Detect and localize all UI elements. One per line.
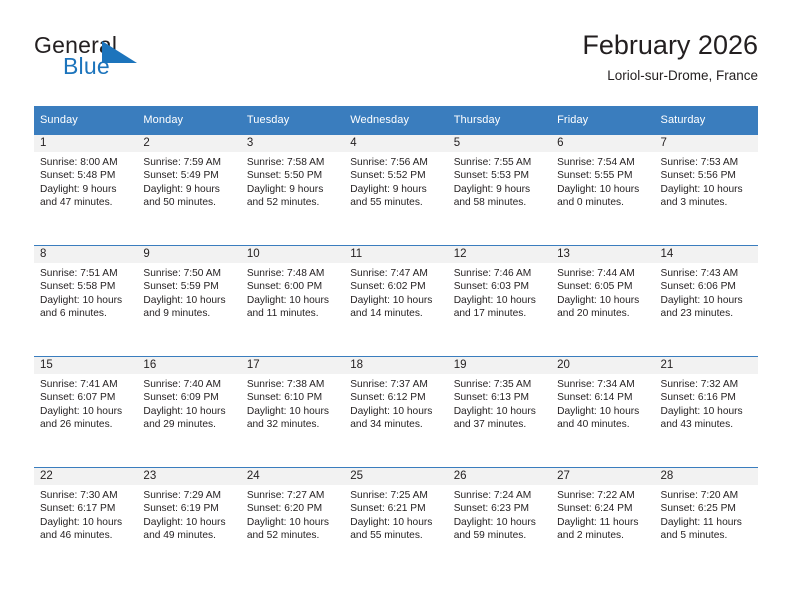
calendar-day-cell[interactable]: 27Sunrise: 7:22 AMSunset: 6:24 PMDayligh…: [551, 468, 654, 579]
daylight-text-line1: Daylight: 10 hours: [247, 405, 340, 418]
day-number: 9: [137, 246, 240, 263]
sunset-text: Sunset: 5:49 PM: [143, 169, 236, 182]
sunset-text: Sunset: 6:13 PM: [454, 391, 547, 404]
sunrise-text: Sunrise: 7:53 AM: [661, 156, 754, 169]
daylight-text-line2: and 40 minutes.: [557, 418, 650, 431]
calendar-day-cell[interactable]: 14Sunrise: 7:43 AMSunset: 6:06 PMDayligh…: [655, 246, 758, 357]
day-number: 2: [137, 135, 240, 152]
sunrise-text: Sunrise: 7:41 AM: [40, 378, 133, 391]
sunset-text: Sunset: 6:07 PM: [40, 391, 133, 404]
sunrise-text: Sunrise: 7:37 AM: [350, 378, 443, 391]
page-title: February 2026: [582, 28, 758, 62]
sunrise-text: Sunrise: 7:34 AM: [557, 378, 650, 391]
daylight-text-line2: and 50 minutes.: [143, 196, 236, 209]
day-cell-inner: 22Sunrise: 7:30 AMSunset: 6:17 PMDayligh…: [34, 468, 137, 578]
day-cell-inner: 12Sunrise: 7:46 AMSunset: 6:03 PMDayligh…: [448, 246, 551, 356]
calendar-day-cell[interactable]: 16Sunrise: 7:40 AMSunset: 6:09 PMDayligh…: [137, 357, 240, 468]
sunrise-text: Sunrise: 7:51 AM: [40, 267, 133, 280]
day-cell-inner: 4Sunrise: 7:56 AMSunset: 5:52 PMDaylight…: [344, 135, 447, 245]
day-number: 27: [551, 468, 654, 485]
sunrise-text: Sunrise: 7:27 AM: [247, 489, 340, 502]
daylight-text-line2: and 20 minutes.: [557, 307, 650, 320]
day-details: Sunrise: 7:24 AMSunset: 6:23 PMDaylight:…: [448, 485, 551, 543]
daylight-text-line2: and 2 minutes.: [557, 529, 650, 542]
daylight-text-line1: Daylight: 10 hours: [454, 294, 547, 307]
daylight-text-line1: Daylight: 10 hours: [350, 516, 443, 529]
sunrise-text: Sunrise: 7:24 AM: [454, 489, 547, 502]
sunrise-text: Sunrise: 8:00 AM: [40, 156, 133, 169]
day-cell-inner: 7Sunrise: 7:53 AMSunset: 5:56 PMDaylight…: [655, 135, 758, 245]
day-number: 25: [344, 468, 447, 485]
day-number: 6: [551, 135, 654, 152]
sunrise-text: Sunrise: 7:54 AM: [557, 156, 650, 169]
sunset-text: Sunset: 5:56 PM: [661, 169, 754, 182]
day-number: 8: [34, 246, 137, 263]
day-details: Sunrise: 7:38 AMSunset: 6:10 PMDaylight:…: [241, 374, 344, 432]
day-number: 1: [34, 135, 137, 152]
calendar-day-cell[interactable]: 15Sunrise: 7:41 AMSunset: 6:07 PMDayligh…: [34, 357, 137, 468]
calendar-day-cell[interactable]: 17Sunrise: 7:38 AMSunset: 6:10 PMDayligh…: [241, 357, 344, 468]
daylight-text-line2: and 52 minutes.: [247, 196, 340, 209]
sunrise-text: Sunrise: 7:50 AM: [143, 267, 236, 280]
day-details: Sunrise: 7:43 AMSunset: 6:06 PMDaylight:…: [655, 263, 758, 321]
brand-name-blue: Blue: [63, 53, 110, 80]
calendar-day-cell[interactable]: 8Sunrise: 7:51 AMSunset: 5:58 PMDaylight…: [34, 246, 137, 357]
daylight-text-line1: Daylight: 10 hours: [454, 405, 547, 418]
day-cell-inner: 19Sunrise: 7:35 AMSunset: 6:13 PMDayligh…: [448, 357, 551, 467]
daylight-text-line1: Daylight: 10 hours: [454, 516, 547, 529]
daylight-text-line1: Daylight: 10 hours: [143, 516, 236, 529]
sunrise-text: Sunrise: 7:46 AM: [454, 267, 547, 280]
day-details: Sunrise: 7:25 AMSunset: 6:21 PMDaylight:…: [344, 485, 447, 543]
sunrise-text: Sunrise: 7:40 AM: [143, 378, 236, 391]
day-cell-inner: 2Sunrise: 7:59 AMSunset: 5:49 PMDaylight…: [137, 135, 240, 245]
sunrise-text: Sunrise: 7:55 AM: [454, 156, 547, 169]
day-cell-inner: 26Sunrise: 7:24 AMSunset: 6:23 PMDayligh…: [448, 468, 551, 578]
calendar-day-cell[interactable]: 21Sunrise: 7:32 AMSunset: 6:16 PMDayligh…: [655, 357, 758, 468]
calendar-day-cell[interactable]: 24Sunrise: 7:27 AMSunset: 6:20 PMDayligh…: [241, 468, 344, 579]
day-number: 18: [344, 357, 447, 374]
sunset-text: Sunset: 6:06 PM: [661, 280, 754, 293]
sunrise-text: Sunrise: 7:22 AM: [557, 489, 650, 502]
daylight-text-line1: Daylight: 10 hours: [350, 294, 443, 307]
calendar-body: 1Sunrise: 8:00 AMSunset: 5:48 PMDaylight…: [34, 135, 758, 579]
day-cell-inner: 25Sunrise: 7:25 AMSunset: 6:21 PMDayligh…: [344, 468, 447, 578]
brand-logo[interactable]: General Blue: [34, 32, 264, 90]
day-cell-inner: 6Sunrise: 7:54 AMSunset: 5:55 PMDaylight…: [551, 135, 654, 245]
daylight-text-line2: and 58 minutes.: [454, 196, 547, 209]
daylight-text-line1: Daylight: 10 hours: [40, 294, 133, 307]
page-header: General Blue February 2026 Loriol-sur-Dr…: [34, 28, 758, 100]
calendar-day-cell[interactable]: 28Sunrise: 7:20 AMSunset: 6:25 PMDayligh…: [655, 468, 758, 579]
weekday-header-sunday: Sunday: [34, 106, 137, 135]
daylight-text-line2: and 17 minutes.: [454, 307, 547, 320]
day-details: Sunrise: 7:37 AMSunset: 6:12 PMDaylight:…: [344, 374, 447, 432]
sunset-text: Sunset: 5:52 PM: [350, 169, 443, 182]
daylight-text-line2: and 47 minutes.: [40, 196, 133, 209]
sunset-text: Sunset: 6:21 PM: [350, 502, 443, 515]
calendar-day-cell[interactable]: 2Sunrise: 7:59 AMSunset: 5:49 PMDaylight…: [137, 135, 240, 246]
daylight-text-line2: and 14 minutes.: [350, 307, 443, 320]
sunset-text: Sunset: 6:03 PM: [454, 280, 547, 293]
sunrise-text: Sunrise: 7:48 AM: [247, 267, 340, 280]
daylight-text-line1: Daylight: 11 hours: [557, 516, 650, 529]
day-number: 23: [137, 468, 240, 485]
day-number: 28: [655, 468, 758, 485]
daylight-text-line1: Daylight: 9 hours: [40, 183, 133, 196]
day-details: Sunrise: 7:50 AMSunset: 5:59 PMDaylight:…: [137, 263, 240, 321]
daylight-text-line1: Daylight: 9 hours: [247, 183, 340, 196]
title-block: February 2026 Loriol-sur-Drome, France: [582, 28, 758, 87]
daylight-text-line1: Daylight: 10 hours: [40, 516, 133, 529]
daylight-text-line2: and 52 minutes.: [247, 529, 340, 542]
day-number: 26: [448, 468, 551, 485]
sunset-text: Sunset: 5:48 PM: [40, 169, 133, 182]
day-details: Sunrise: 7:44 AMSunset: 6:05 PMDaylight:…: [551, 263, 654, 321]
calendar-week-row: 8Sunrise: 7:51 AMSunset: 5:58 PMDaylight…: [34, 246, 758, 357]
day-cell-inner: 18Sunrise: 7:37 AMSunset: 6:12 PMDayligh…: [344, 357, 447, 467]
day-cell-inner: 5Sunrise: 7:55 AMSunset: 5:53 PMDaylight…: [448, 135, 551, 245]
daylight-text-line2: and 46 minutes.: [40, 529, 133, 542]
daylight-text-line1: Daylight: 9 hours: [454, 183, 547, 196]
calendar-day-cell[interactable]: 3Sunrise: 7:58 AMSunset: 5:50 PMDaylight…: [241, 135, 344, 246]
sunset-text: Sunset: 6:19 PM: [143, 502, 236, 515]
day-number: 14: [655, 246, 758, 263]
day-details: Sunrise: 7:20 AMSunset: 6:25 PMDaylight:…: [655, 485, 758, 543]
sunrise-text: Sunrise: 7:35 AM: [454, 378, 547, 391]
day-cell-inner: 16Sunrise: 7:40 AMSunset: 6:09 PMDayligh…: [137, 357, 240, 467]
sunrise-text: Sunrise: 7:47 AM: [350, 267, 443, 280]
sunset-text: Sunset: 6:20 PM: [247, 502, 340, 515]
calendar-day-cell[interactable]: 5Sunrise: 7:55 AMSunset: 5:53 PMDaylight…: [448, 135, 551, 246]
daylight-text-line2: and 11 minutes.: [247, 307, 340, 320]
sunrise-text: Sunrise: 7:43 AM: [661, 267, 754, 280]
day-details: Sunrise: 7:55 AMSunset: 5:53 PMDaylight:…: [448, 152, 551, 210]
sunrise-text: Sunrise: 7:32 AM: [661, 378, 754, 391]
calendar-table: Sunday Monday Tuesday Wednesday Thursday…: [34, 106, 758, 578]
sunset-text: Sunset: 6:10 PM: [247, 391, 340, 404]
sunrise-text: Sunrise: 7:58 AM: [247, 156, 340, 169]
day-details: Sunrise: 7:48 AMSunset: 6:00 PMDaylight:…: [241, 263, 344, 321]
sunset-text: Sunset: 6:05 PM: [557, 280, 650, 293]
day-details: Sunrise: 7:30 AMSunset: 6:17 PMDaylight:…: [34, 485, 137, 543]
day-cell-inner: 28Sunrise: 7:20 AMSunset: 6:25 PMDayligh…: [655, 468, 758, 578]
day-cell-inner: 23Sunrise: 7:29 AMSunset: 6:19 PMDayligh…: [137, 468, 240, 578]
day-number: 22: [34, 468, 137, 485]
calendar-day-cell[interactable]: 10Sunrise: 7:48 AMSunset: 6:00 PMDayligh…: [241, 246, 344, 357]
sunrise-text: Sunrise: 7:56 AM: [350, 156, 443, 169]
daylight-text-line1: Daylight: 10 hours: [247, 516, 340, 529]
weekday-header-saturday: Saturday: [655, 106, 758, 135]
day-number: 12: [448, 246, 551, 263]
sunset-text: Sunset: 6:14 PM: [557, 391, 650, 404]
day-cell-inner: 15Sunrise: 7:41 AMSunset: 6:07 PMDayligh…: [34, 357, 137, 467]
daylight-text-line1: Daylight: 10 hours: [557, 183, 650, 196]
sunset-text: Sunset: 6:25 PM: [661, 502, 754, 515]
sunrise-text: Sunrise: 7:29 AM: [143, 489, 236, 502]
daylight-text-line2: and 43 minutes.: [661, 418, 754, 431]
calendar-day-cell[interactable]: 12Sunrise: 7:46 AMSunset: 6:03 PMDayligh…: [448, 246, 551, 357]
calendar-day-cell[interactable]: 23Sunrise: 7:29 AMSunset: 6:19 PMDayligh…: [137, 468, 240, 579]
daylight-text-line2: and 55 minutes.: [350, 529, 443, 542]
calendar-day-cell[interactable]: 22Sunrise: 7:30 AMSunset: 6:17 PMDayligh…: [34, 468, 137, 579]
calendar-day-cell[interactable]: 7Sunrise: 7:53 AMSunset: 5:56 PMDaylight…: [655, 135, 758, 246]
daylight-text-line1: Daylight: 10 hours: [350, 405, 443, 418]
day-cell-inner: 24Sunrise: 7:27 AMSunset: 6:20 PMDayligh…: [241, 468, 344, 578]
calendar-header-row: Sunday Monday Tuesday Wednesday Thursday…: [34, 106, 758, 135]
day-details: Sunrise: 7:53 AMSunset: 5:56 PMDaylight:…: [655, 152, 758, 210]
day-number: 20: [551, 357, 654, 374]
day-cell-inner: 9Sunrise: 7:50 AMSunset: 5:59 PMDaylight…: [137, 246, 240, 356]
calendar-week-row: 1Sunrise: 8:00 AMSunset: 5:48 PMDaylight…: [34, 135, 758, 246]
calendar-day-cell[interactable]: 18Sunrise: 7:37 AMSunset: 6:12 PMDayligh…: [344, 357, 447, 468]
daylight-text-line1: Daylight: 10 hours: [143, 405, 236, 418]
day-details: Sunrise: 7:41 AMSunset: 6:07 PMDaylight:…: [34, 374, 137, 432]
calendar-day-cell[interactable]: 26Sunrise: 7:24 AMSunset: 6:23 PMDayligh…: [448, 468, 551, 579]
day-number: 11: [344, 246, 447, 263]
calendar-page: General Blue February 2026 Loriol-sur-Dr…: [0, 0, 792, 612]
day-details: Sunrise: 7:59 AMSunset: 5:49 PMDaylight:…: [137, 152, 240, 210]
sunset-text: Sunset: 6:02 PM: [350, 280, 443, 293]
daylight-text-line2: and 34 minutes.: [350, 418, 443, 431]
day-number: 13: [551, 246, 654, 263]
day-details: Sunrise: 7:34 AMSunset: 6:14 PMDaylight:…: [551, 374, 654, 432]
daylight-text-line1: Daylight: 9 hours: [143, 183, 236, 196]
calendar-day-cell[interactable]: 11Sunrise: 7:47 AMSunset: 6:02 PMDayligh…: [344, 246, 447, 357]
daylight-text-line1: Daylight: 10 hours: [557, 294, 650, 307]
weekday-header-tuesday: Tuesday: [241, 106, 344, 135]
sunrise-text: Sunrise: 7:30 AM: [40, 489, 133, 502]
sunset-text: Sunset: 6:16 PM: [661, 391, 754, 404]
day-details: Sunrise: 7:40 AMSunset: 6:09 PMDaylight:…: [137, 374, 240, 432]
daylight-text-line2: and 5 minutes.: [661, 529, 754, 542]
day-number: 5: [448, 135, 551, 152]
weekday-header-monday: Monday: [137, 106, 240, 135]
daylight-text-line2: and 0 minutes.: [557, 196, 650, 209]
sunset-text: Sunset: 5:59 PM: [143, 280, 236, 293]
daylight-text-line2: and 6 minutes.: [40, 307, 133, 320]
daylight-text-line1: Daylight: 10 hours: [557, 405, 650, 418]
sunset-text: Sunset: 5:53 PM: [454, 169, 547, 182]
sunset-text: Sunset: 5:50 PM: [247, 169, 340, 182]
day-details: Sunrise: 7:22 AMSunset: 6:24 PMDaylight:…: [551, 485, 654, 543]
calendar-day-cell[interactable]: 9Sunrise: 7:50 AMSunset: 5:59 PMDaylight…: [137, 246, 240, 357]
day-number: 15: [34, 357, 137, 374]
day-details: Sunrise: 8:00 AMSunset: 5:48 PMDaylight:…: [34, 152, 137, 210]
daylight-text-line2: and 29 minutes.: [143, 418, 236, 431]
daylight-text-line2: and 3 minutes.: [661, 196, 754, 209]
day-number: 21: [655, 357, 758, 374]
sunrise-text: Sunrise: 7:44 AM: [557, 267, 650, 280]
daylight-text-line2: and 26 minutes.: [40, 418, 133, 431]
sunrise-text: Sunrise: 7:25 AM: [350, 489, 443, 502]
weekday-header-wednesday: Wednesday: [344, 106, 447, 135]
calendar-day-cell[interactable]: 13Sunrise: 7:44 AMSunset: 6:05 PMDayligh…: [551, 246, 654, 357]
calendar-week-row: 22Sunrise: 7:30 AMSunset: 6:17 PMDayligh…: [34, 468, 758, 579]
day-cell-inner: 17Sunrise: 7:38 AMSunset: 6:10 PMDayligh…: [241, 357, 344, 467]
daylight-text-line1: Daylight: 10 hours: [661, 405, 754, 418]
day-details: Sunrise: 7:47 AMSunset: 6:02 PMDaylight:…: [344, 263, 447, 321]
day-number: 19: [448, 357, 551, 374]
day-details: Sunrise: 7:56 AMSunset: 5:52 PMDaylight:…: [344, 152, 447, 210]
sunset-text: Sunset: 5:55 PM: [557, 169, 650, 182]
daylight-text-line2: and 37 minutes.: [454, 418, 547, 431]
daylight-text-line1: Daylight: 10 hours: [143, 294, 236, 307]
weekday-header-thursday: Thursday: [448, 106, 551, 135]
day-details: Sunrise: 7:51 AMSunset: 5:58 PMDaylight:…: [34, 263, 137, 321]
sunset-text: Sunset: 6:12 PM: [350, 391, 443, 404]
sunset-text: Sunset: 6:23 PM: [454, 502, 547, 515]
calendar-week-row: 15Sunrise: 7:41 AMSunset: 6:07 PMDayligh…: [34, 357, 758, 468]
sunset-text: Sunset: 6:00 PM: [247, 280, 340, 293]
day-number: 17: [241, 357, 344, 374]
day-cell-inner: 14Sunrise: 7:43 AMSunset: 6:06 PMDayligh…: [655, 246, 758, 356]
weekday-header-friday: Friday: [551, 106, 654, 135]
location-subtitle: Loriol-sur-Drome, France: [582, 65, 758, 87]
day-cell-inner: 13Sunrise: 7:44 AMSunset: 6:05 PMDayligh…: [551, 246, 654, 356]
sunset-text: Sunset: 6:09 PM: [143, 391, 236, 404]
day-cell-inner: 21Sunrise: 7:32 AMSunset: 6:16 PMDayligh…: [655, 357, 758, 467]
daylight-text-line1: Daylight: 10 hours: [661, 183, 754, 196]
calendar-day-cell[interactable]: 20Sunrise: 7:34 AMSunset: 6:14 PMDayligh…: [551, 357, 654, 468]
sunrise-text: Sunrise: 7:59 AM: [143, 156, 236, 169]
daylight-text-line2: and 49 minutes.: [143, 529, 236, 542]
day-details: Sunrise: 7:58 AMSunset: 5:50 PMDaylight:…: [241, 152, 344, 210]
day-number: 10: [241, 246, 344, 263]
day-cell-inner: 1Sunrise: 8:00 AMSunset: 5:48 PMDaylight…: [34, 135, 137, 245]
day-details: Sunrise: 7:35 AMSunset: 6:13 PMDaylight:…: [448, 374, 551, 432]
day-details: Sunrise: 7:27 AMSunset: 6:20 PMDaylight:…: [241, 485, 344, 543]
sunset-text: Sunset: 5:58 PM: [40, 280, 133, 293]
day-number: 7: [655, 135, 758, 152]
day-cell-inner: 10Sunrise: 7:48 AMSunset: 6:00 PMDayligh…: [241, 246, 344, 356]
calendar-day-cell[interactable]: 19Sunrise: 7:35 AMSunset: 6:13 PMDayligh…: [448, 357, 551, 468]
daylight-text-line1: Daylight: 9 hours: [350, 183, 443, 196]
day-details: Sunrise: 7:29 AMSunset: 6:19 PMDaylight:…: [137, 485, 240, 543]
daylight-text-line2: and 59 minutes.: [454, 529, 547, 542]
daylight-text-line2: and 32 minutes.: [247, 418, 340, 431]
calendar-day-cell[interactable]: 4Sunrise: 7:56 AMSunset: 5:52 PMDaylight…: [344, 135, 447, 246]
sunrise-text: Sunrise: 7:20 AM: [661, 489, 754, 502]
day-details: Sunrise: 7:46 AMSunset: 6:03 PMDaylight:…: [448, 263, 551, 321]
sunset-text: Sunset: 6:17 PM: [40, 502, 133, 515]
day-details: Sunrise: 7:54 AMSunset: 5:55 PMDaylight:…: [551, 152, 654, 210]
day-cell-inner: 3Sunrise: 7:58 AMSunset: 5:50 PMDaylight…: [241, 135, 344, 245]
daylight-text-line1: Daylight: 10 hours: [40, 405, 133, 418]
day-number: 24: [241, 468, 344, 485]
daylight-text-line2: and 55 minutes.: [350, 196, 443, 209]
daylight-text-line2: and 9 minutes.: [143, 307, 236, 320]
day-number: 3: [241, 135, 344, 152]
calendar-day-cell[interactable]: 1Sunrise: 8:00 AMSunset: 5:48 PMDaylight…: [34, 135, 137, 246]
day-number: 16: [137, 357, 240, 374]
calendar-day-cell[interactable]: 25Sunrise: 7:25 AMSunset: 6:21 PMDayligh…: [344, 468, 447, 579]
daylight-text-line1: Daylight: 11 hours: [661, 516, 754, 529]
sunset-text: Sunset: 6:24 PM: [557, 502, 650, 515]
day-details: Sunrise: 7:32 AMSunset: 6:16 PMDaylight:…: [655, 374, 758, 432]
day-cell-inner: 8Sunrise: 7:51 AMSunset: 5:58 PMDaylight…: [34, 246, 137, 356]
day-cell-inner: 27Sunrise: 7:22 AMSunset: 6:24 PMDayligh…: [551, 468, 654, 578]
day-number: 4: [344, 135, 447, 152]
day-cell-inner: 11Sunrise: 7:47 AMSunset: 6:02 PMDayligh…: [344, 246, 447, 356]
day-cell-inner: 20Sunrise: 7:34 AMSunset: 6:14 PMDayligh…: [551, 357, 654, 467]
daylight-text-line1: Daylight: 10 hours: [661, 294, 754, 307]
daylight-text-line1: Daylight: 10 hours: [247, 294, 340, 307]
sunrise-text: Sunrise: 7:38 AM: [247, 378, 340, 391]
calendar-day-cell[interactable]: 6Sunrise: 7:54 AMSunset: 5:55 PMDaylight…: [551, 135, 654, 246]
daylight-text-line2: and 23 minutes.: [661, 307, 754, 320]
